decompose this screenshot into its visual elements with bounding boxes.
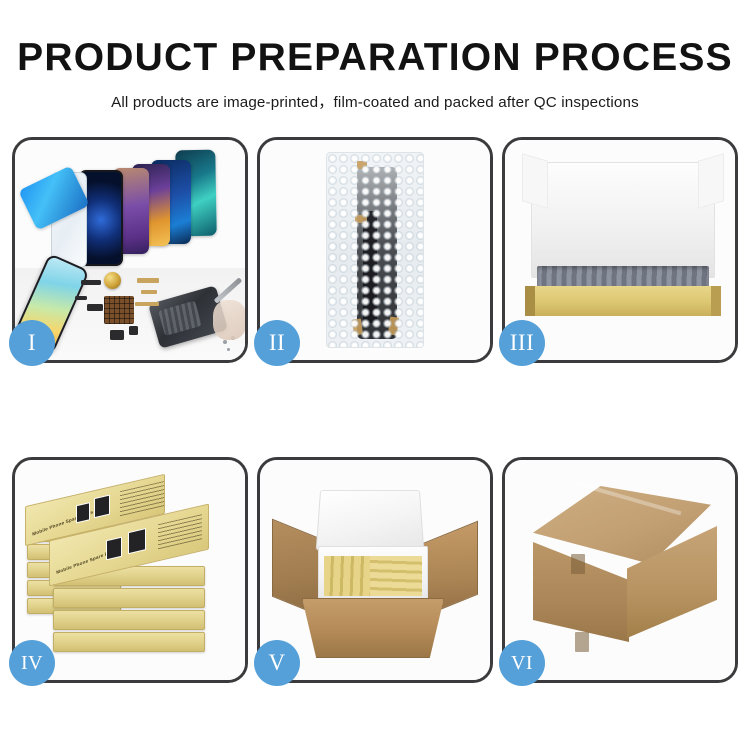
flex-cable-icon (135, 302, 159, 306)
screw-icon (223, 340, 227, 344)
step-badge-4: IV (9, 640, 55, 686)
page-subtitle: All products are image-printed，film-coat… (0, 90, 750, 112)
logic-board-icon (104, 296, 134, 324)
step-1-image (15, 140, 245, 360)
bubble-texture (327, 153, 423, 347)
chip-part-icon (87, 304, 103, 311)
box-label-photo-icon (106, 537, 122, 561)
outer-carton-icon (302, 598, 444, 658)
stacked-box (53, 588, 205, 608)
chip-part-icon (129, 326, 138, 335)
step-badge-6: VI (499, 640, 545, 686)
carton-tape-icon (571, 554, 585, 574)
box-label-photo-icon (128, 528, 146, 554)
kraft-box-base-icon (525, 286, 721, 316)
step-badge-1: I (9, 320, 55, 366)
step-badge-2: II (254, 320, 300, 366)
foam-box-lid-icon (316, 490, 425, 550)
box-label-textlines (120, 481, 164, 517)
technician-hand-icon (213, 300, 245, 340)
process-step-panel-3[interactable]: III (502, 137, 738, 363)
step-5-image (260, 460, 490, 680)
process-step-panel-6[interactable]: VI (502, 457, 738, 683)
step-badge-5: V (254, 640, 300, 686)
stacked-box (53, 632, 205, 652)
step-3-image (505, 140, 735, 360)
step-badge-3: III (499, 320, 545, 366)
stacked-box (53, 610, 205, 630)
box-label-photo-icon (94, 495, 110, 519)
process-step-panel-4[interactable]: Mobile Phone Spare Parts Mobile Phone Sp… (12, 457, 248, 683)
gold-coil-icon (104, 272, 121, 289)
process-step-panel-1[interactable]: I (12, 137, 248, 363)
process-step-grid: I II III (12, 137, 739, 683)
flex-cable-icon (137, 278, 159, 283)
process-step-panel-2[interactable]: II (257, 137, 493, 363)
flex-cable-icon (141, 290, 157, 294)
box-label-photo-icon (76, 502, 90, 523)
box-label-textlines (158, 514, 202, 550)
bubble-wrap-bag-icon (326, 152, 424, 348)
chip-part-icon (110, 330, 124, 340)
carton-tape-icon (575, 632, 589, 652)
process-step-panel-5[interactable]: V (257, 457, 493, 683)
screw-icon (227, 348, 230, 351)
box-stack-icon: Mobile Phone Spare Parts Mobile Phone Sp… (15, 460, 245, 680)
step-4-image: Mobile Phone Spare Parts Mobile Phone Sp… (15, 460, 245, 680)
page-title: PRODUCT PREPARATION PROCESS (0, 38, 750, 79)
kraft-boxes-inside-icon (370, 556, 422, 596)
step-2-image (260, 140, 490, 360)
chip-part-icon (81, 280, 101, 285)
page-header: PRODUCT PREPARATION PROCESS All products… (0, 0, 750, 112)
box-lid-icon (531, 162, 715, 278)
chip-part-icon (75, 296, 87, 300)
step-6-image (505, 460, 735, 680)
